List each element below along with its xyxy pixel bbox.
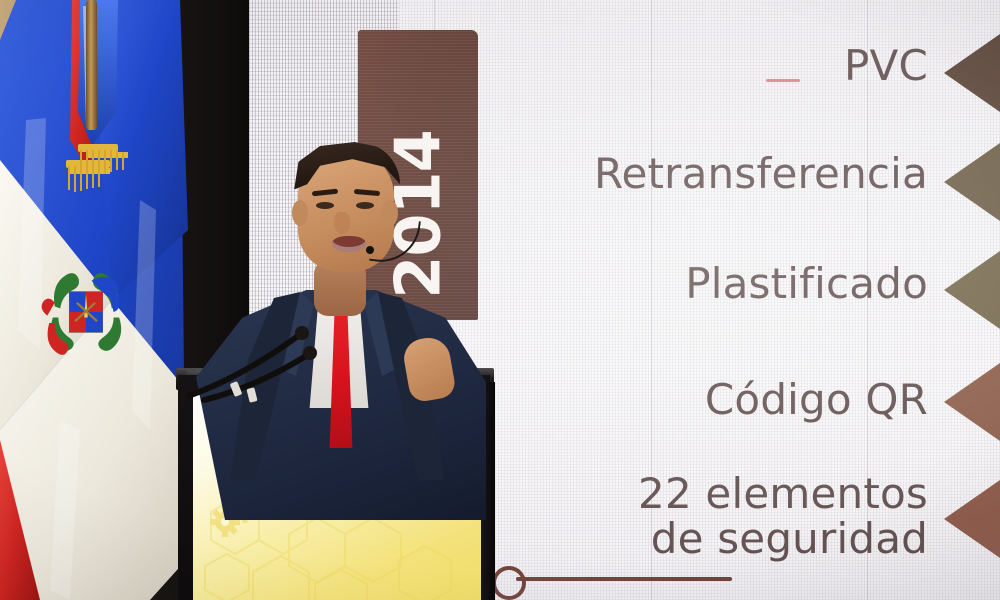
- slide-item-retransferencia: Retransferencia: [594, 152, 928, 197]
- chevron-arrow-icon: [944, 143, 1000, 221]
- headset-microphone-boom: [369, 215, 421, 267]
- flag-svg: [0, 0, 205, 600]
- slide-item-pvc: PVC: [844, 44, 928, 89]
- chevron-arrow-icon: [944, 34, 1000, 112]
- speaker-eye-left: [316, 202, 334, 209]
- slide-item-elementos-seguridad: 22 elementos de seguridad: [578, 472, 928, 561]
- slide-red-tick-mark: [766, 79, 800, 82]
- chevron-arrow-icon: [944, 480, 1000, 558]
- timeline-circle-marker: [492, 566, 526, 600]
- chevron-arrow-icon: [944, 363, 1000, 441]
- speaker-eye-right: [356, 202, 374, 209]
- flag-pole: [86, 0, 97, 130]
- speaker-mouth: [332, 236, 366, 252]
- dominican-republic-flag: [0, 0, 205, 600]
- photo-scene: 2014 PVC Retransferencia Plastificado Có…: [0, 0, 1000, 600]
- timeline-line: [516, 577, 732, 581]
- slide-item-codigo-qr: Código QR: [705, 378, 928, 423]
- lectern-microphones: [180, 300, 360, 410]
- chevron-arrow-icon: [944, 251, 1000, 329]
- slide-item-plastificado: Plastificado: [685, 262, 928, 307]
- microphone-band: [246, 387, 257, 403]
- speaker-nose: [334, 212, 350, 234]
- headset-microphone-icon: [366, 246, 374, 254]
- microphone-head: [303, 346, 317, 360]
- microphone-head: [295, 326, 309, 340]
- speaker-ear-left: [292, 200, 308, 226]
